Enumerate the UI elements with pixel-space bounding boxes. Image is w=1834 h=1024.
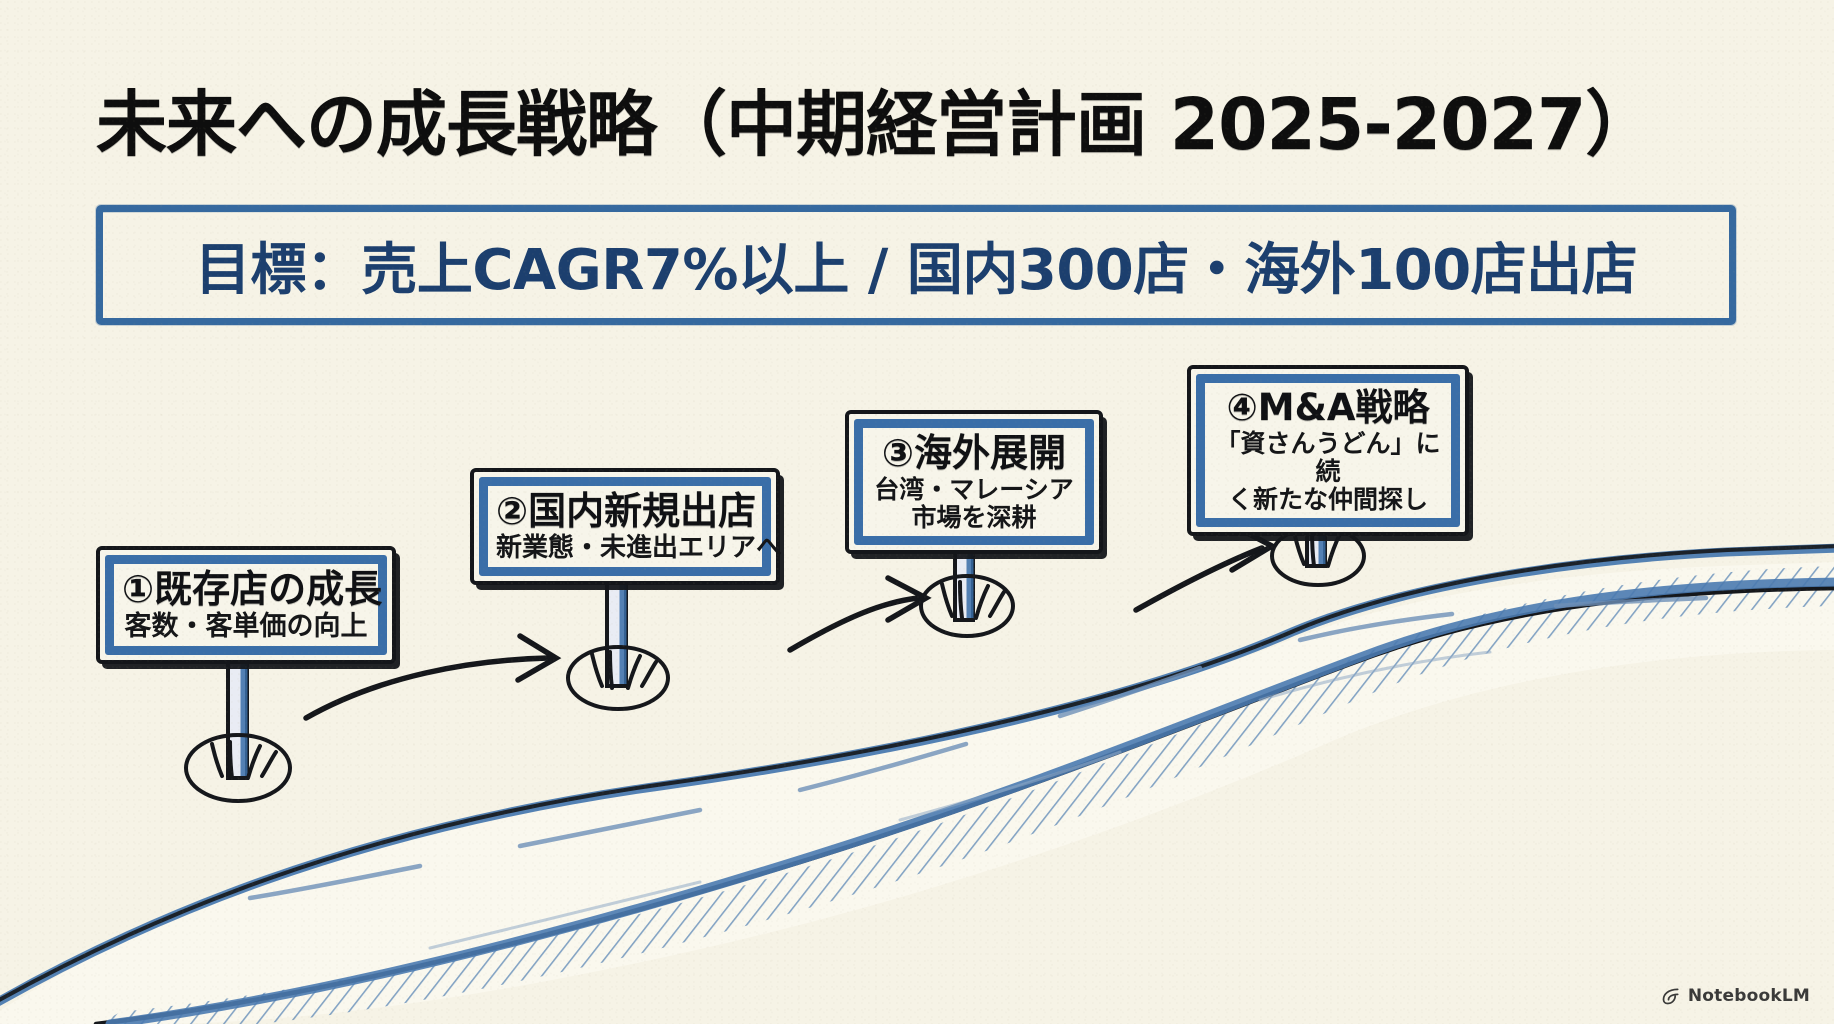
signpost-4-subtitle-line-2: く新たな仲間探し: [1213, 486, 1443, 514]
signpost-1-subtitle: 客数・客単価の向上: [122, 612, 370, 642]
signpost-2-subtitle: 新業態・未進出エリアへ: [496, 534, 754, 563]
signpost-4[interactable]: ④M&A戦略 「資さんうどん」に続 く新たな仲間探し: [1187, 365, 1469, 536]
signpost-1[interactable]: ①既存店の成長 客数・客単価の向上: [96, 546, 396, 664]
signpost-4-subtitle-line-1: 「資さんうどん」に続: [1213, 430, 1443, 486]
notebooklm-logo-icon: [1661, 986, 1681, 1006]
signpost-4-title: ④M&A戦略: [1213, 389, 1443, 427]
signpost-3-subtitle-line-2: 市場を深耕: [871, 504, 1077, 532]
signpost-3-subtitle-line-1: 台湾・マレーシア: [871, 476, 1077, 504]
signpost-3-title: ③海外展開: [871, 434, 1077, 473]
arrow-3-to-4: [1136, 524, 1272, 610]
goal-box: 目標：売上CAGR7%以上 / 国内300店・海外100店出店: [96, 205, 1736, 325]
signpost-2[interactable]: ②国内新規出店 新業態・未進出エリアへ: [470, 468, 780, 585]
notebooklm-label: NotebookLM: [1688, 986, 1810, 1006]
arrow-2-to-3: [790, 578, 926, 650]
signpost-4-plate: ④M&A戦略 「資さんうどん」に続 く新たな仲間探し: [1187, 365, 1469, 536]
notebooklm-watermark: NotebookLM: [1661, 986, 1810, 1006]
page-title: 未来への成長戦略（中期経営計画 2025-2027）: [96, 68, 1736, 170]
signpost-1-title: ①既存店の成長: [122, 570, 370, 609]
signpost-2-title: ②国内新規出店: [496, 492, 754, 531]
slide-canvas: 未来への成長戦略（中期経営計画 2025-2027） 目標：売上CAGR7%以上…: [0, 0, 1834, 1024]
goal-text: 目標：売上CAGR7%以上 / 国内300店・海外100店出店: [195, 225, 1637, 306]
signpost-3[interactable]: ③海外展開 台湾・マレーシア 市場を深耕: [845, 410, 1103, 554]
signpost-1-plate: ①既存店の成長 客数・客単価の向上: [96, 546, 396, 664]
signpost-1-pole: [186, 660, 290, 801]
signpost-3-plate: ③海外展開 台湾・マレーシア 市場を深耕: [845, 410, 1103, 554]
signpost-2-plate: ②国内新規出店 新業態・未進出エリアへ: [470, 468, 780, 585]
signpost-2-pole: [568, 582, 668, 709]
